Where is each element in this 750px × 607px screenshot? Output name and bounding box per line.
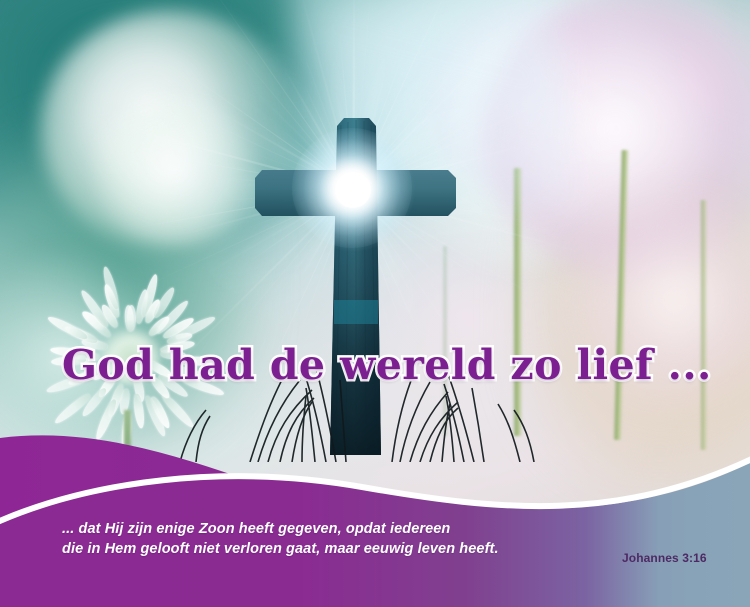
cross-light-center (292, 128, 412, 248)
poster: God had de wereld zo lief ... (0, 0, 750, 607)
verse-line-2: die in Hem gelooft niet verloren gaat, m… (62, 539, 499, 559)
scripture-citation: Johannes 3:16 (622, 551, 707, 565)
footer-wave (0, 407, 750, 607)
page-title: God had de wereld zo lief ... (62, 341, 712, 389)
verse-text: ... dat Hij zijn enige Zoon heeft gegeve… (62, 519, 499, 559)
verse-line-1: ... dat Hij zijn enige Zoon heeft gegeve… (62, 519, 499, 539)
